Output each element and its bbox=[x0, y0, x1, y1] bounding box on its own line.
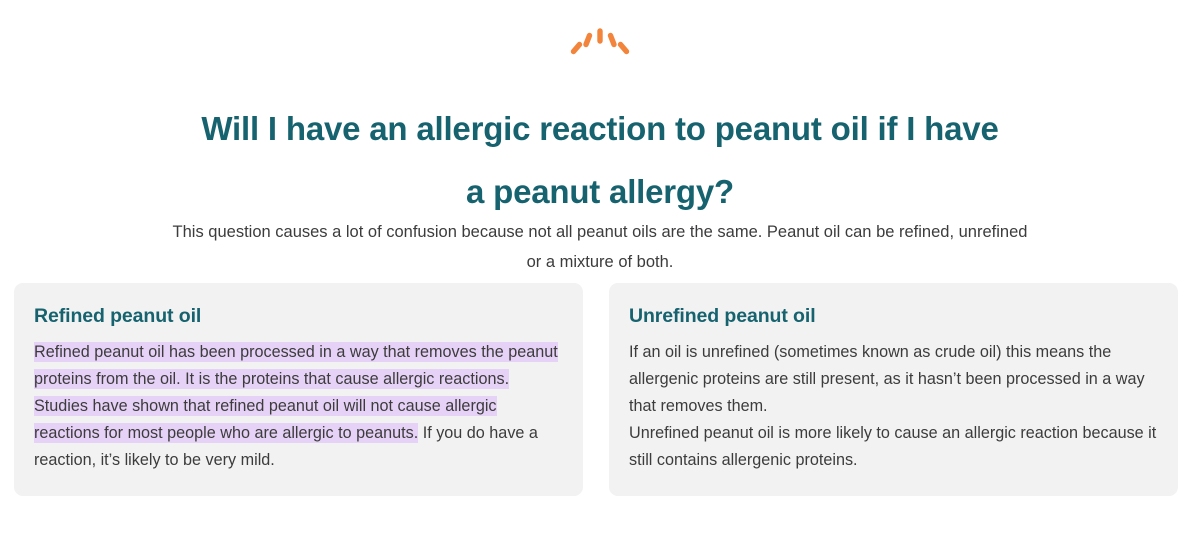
sunburst-decoration bbox=[0, 26, 1200, 56]
card-grid: Refined peanut oil Refined peanut oil ha… bbox=[14, 283, 1178, 496]
card-title: Unrefined peanut oil bbox=[629, 304, 1158, 328]
page-title-line-1: Will I have an allergic reaction to pean… bbox=[90, 98, 1110, 161]
page-title: Will I have an allergic reaction to pean… bbox=[0, 98, 1200, 223]
card-body: Refined peanut oil has been processed in… bbox=[34, 339, 563, 473]
sunburst-icon bbox=[568, 26, 632, 56]
card-title: Refined peanut oil bbox=[34, 304, 563, 328]
page-title-line-2: a peanut allergy? bbox=[90, 161, 1110, 224]
page-root: Will I have an allergic reaction to pean… bbox=[0, 0, 1200, 548]
card-paragraph: Unrefined peanut oil is more likely to c… bbox=[629, 420, 1158, 474]
card-paragraph: Refined peanut oil has been processed in… bbox=[34, 339, 563, 393]
card-body: If an oil is unrefined (sometimes known … bbox=[629, 339, 1158, 473]
plain-text: If an oil is unrefined (sometimes known … bbox=[629, 343, 1145, 415]
highlighted-text: Refined peanut oil has been processed in… bbox=[34, 342, 558, 389]
plain-text: Unrefined peanut oil is more likely to c… bbox=[629, 424, 1156, 469]
card-refined-peanut-oil: Refined peanut oil Refined peanut oil ha… bbox=[14, 283, 583, 496]
card-paragraph: If an oil is unrefined (sometimes known … bbox=[629, 339, 1158, 420]
card-unrefined-peanut-oil: Unrefined peanut oil If an oil is unrefi… bbox=[609, 283, 1178, 496]
card-paragraph: Studies have shown that refined peanut o… bbox=[34, 393, 563, 474]
page-subtitle: This question causes a lot of confusion … bbox=[0, 217, 1200, 277]
